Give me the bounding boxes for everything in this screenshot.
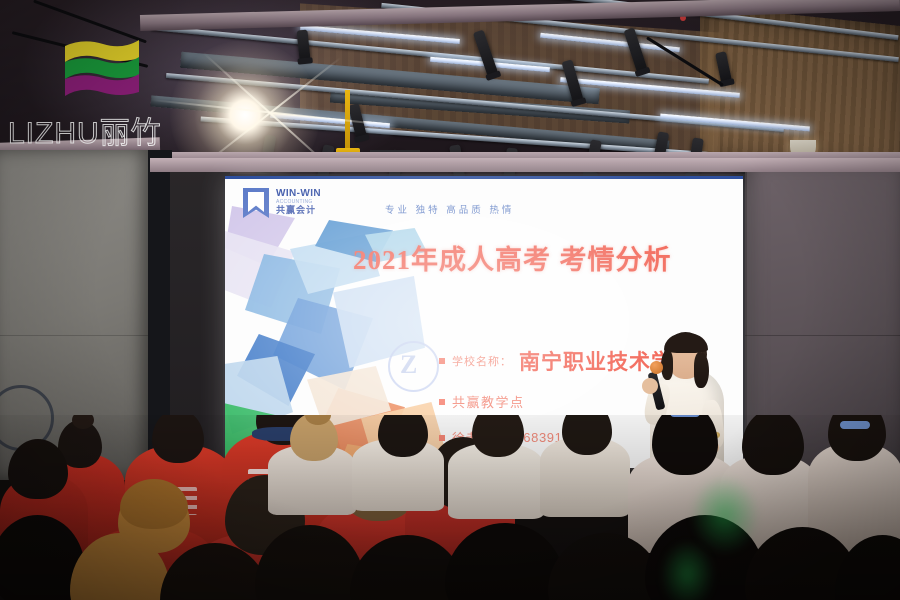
audience-hair-tie (840, 421, 870, 429)
audience-member-head (472, 415, 524, 457)
photo-canvas: WIN-WIN ACCOUNTING 共赢会计 专业 独特 高品质 热情 202… (0, 0, 900, 600)
audience-member-head (152, 415, 204, 463)
audience-member-head (120, 479, 188, 529)
microphone-head (650, 361, 663, 374)
presenter-hair-side (694, 352, 709, 388)
audience-member-head (652, 415, 718, 475)
audience-member-head (562, 415, 612, 455)
audience-member-head (378, 415, 428, 457)
audience (0, 415, 900, 600)
presenter-hair-front (664, 333, 708, 353)
presenter-left-hand (642, 378, 658, 394)
audience-member-head (8, 439, 68, 499)
audience-hair-tie (670, 415, 700, 417)
audience-member-head (742, 415, 804, 475)
